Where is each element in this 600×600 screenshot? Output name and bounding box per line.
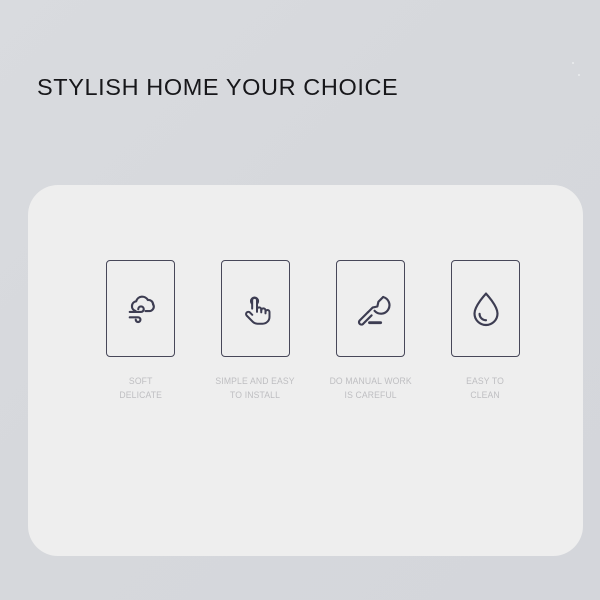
icon-card [106, 260, 175, 357]
hand-tap-icon [236, 289, 276, 329]
feature-label: EASY TO CLEAN [467, 375, 505, 402]
feature-label: SOFT DELICATE [119, 375, 162, 402]
product-feature-banner: STYLISH HOME YOUR CHOICE S [0, 0, 600, 600]
decorative-speck [572, 62, 574, 64]
icon-card [336, 260, 405, 357]
feature-label: SIMPLE AND EASY TO INSTALL [216, 375, 295, 402]
icon-card [451, 260, 520, 357]
feature-item-simple-install[interactable]: SIMPLE AND EASY TO INSTALL [198, 260, 313, 402]
wrench-icon [351, 289, 391, 329]
feature-item-easy-clean[interactable]: EASY TO CLEAN [428, 260, 543, 402]
icon-card [221, 260, 290, 357]
feature-panel: SOFT DELICATE SIMPLE AND EASY [28, 185, 583, 556]
feature-list: SOFT DELICATE SIMPLE AND EASY [28, 260, 583, 402]
page-title: STYLISH HOME YOUR CHOICE [37, 74, 398, 101]
feature-label: DO MANUAL WORK IS CAREFUL [329, 375, 411, 402]
feature-item-soft-delicate[interactable]: SOFT DELICATE [83, 260, 198, 402]
decorative-speck [578, 74, 580, 76]
feature-item-manual-work[interactable]: DO MANUAL WORK IS CAREFUL [313, 260, 428, 402]
water-drop-icon [466, 289, 506, 329]
cloud-wind-icon [121, 289, 161, 329]
